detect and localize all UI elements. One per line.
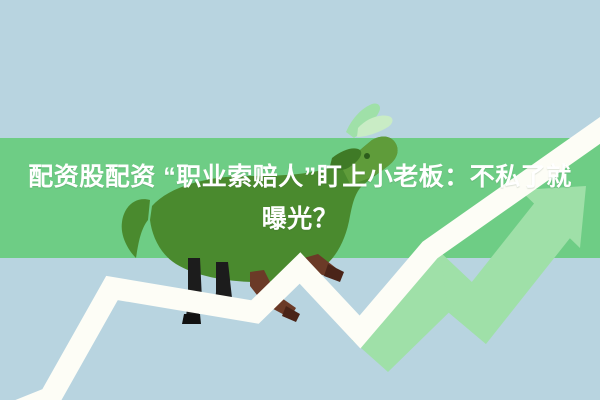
headline-line-1: 配资股配资 “职业索赔人”盯上小老板：不私了就 bbox=[28, 163, 571, 191]
headline-text: 配资股配资 “职业索赔人”盯上小老板：不私了就曝光？ bbox=[0, 156, 600, 240]
thumbnail-image: 配资股配资 “职业索赔人”盯上小老板：不私了就曝光？ bbox=[0, 0, 600, 400]
headline-line-2: 曝光？ bbox=[262, 205, 339, 233]
